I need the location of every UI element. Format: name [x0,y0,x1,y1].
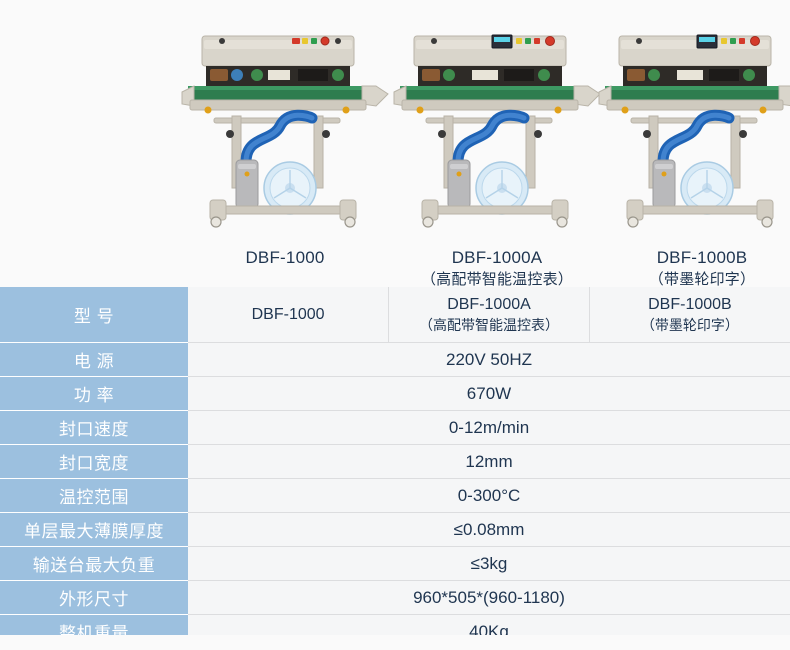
spec-value-sealing-width: 12mm [188,445,790,479]
table-header-row: 型 号 DBF-1000 DBF-1000A （高配带智能温控表） DBF-10… [0,287,790,343]
product-image-dbf-1000a[interactable]: DBF-1000A （高配带智能温控表） [392,14,602,284]
table-row: 封口速度 0-12m/min [0,411,790,445]
page-bottom-spacer [0,635,790,650]
spec-value-max-conveyor-load: ≤3kg [188,547,790,581]
table-row: 功 率 670W [0,377,790,411]
spec-value-power: 670W [188,377,790,411]
spec-label-model: 型 号 [0,287,188,343]
product-caption-title: DBF-1000 [245,248,324,267]
model-title: DBF-1000B [648,296,732,313]
model-column-dbf-1000: DBF-1000 [188,287,389,343]
model-subtitle: （高配带智能温控表） [389,315,589,335]
specification-table: 型 号 DBF-1000 DBF-1000A （高配带智能温控表） DBF-10… [0,287,790,649]
product-caption: DBF-1000B （带墨轮印字） [597,246,790,291]
band-sealer-illustration [392,14,602,229]
spec-value-max-film-thickness: ≤0.08mm [188,513,790,547]
model-column-dbf-1000b: DBF-1000B （带墨轮印字） [589,287,790,343]
spec-label-power: 功 率 [0,377,188,411]
table-row: 外形尺寸 960*505*(960-1180) [0,581,790,615]
band-sealer-illustration [180,14,390,229]
spec-value-dimensions: 960*505*(960-1180) [188,581,790,615]
spec-value-sealing-speed: 0-12m/min [188,411,790,445]
model-subtitle: （带墨轮印字） [590,315,790,335]
band-sealer-illustration [597,14,790,229]
table-row: 温控范围 0-300°C [0,479,790,513]
product-image-dbf-1000[interactable]: DBF-1000 [180,14,390,284]
product-gallery: DBF-1000 [0,0,790,285]
product-caption: DBF-1000 [180,246,390,269]
product-caption: DBF-1000A （高配带智能温控表） [392,246,602,291]
spec-label-temperature-range: 温控范围 [0,479,188,513]
spec-value-temperature-range: 0-300°C [188,479,790,513]
model-title: DBF-1000 [252,306,325,323]
model-title: DBF-1000A [447,296,531,313]
table-row: 输送台最大负重 ≤3kg [0,547,790,581]
spec-value-power-source: 220V 50HZ [188,343,790,377]
table-row: 单层最大薄膜厚度 ≤0.08mm [0,513,790,547]
spec-label-sealing-width: 封口宽度 [0,445,188,479]
model-column-dbf-1000a: DBF-1000A （高配带智能温控表） [389,287,590,343]
product-image-dbf-1000b[interactable]: DBF-1000B （带墨轮印字） [597,14,790,284]
spec-label-dimensions: 外形尺寸 [0,581,188,615]
table-row: 电 源 220V 50HZ [0,343,790,377]
spec-label-max-conveyor-load: 输送台最大负重 [0,547,188,581]
spec-label-sealing-speed: 封口速度 [0,411,188,445]
table-row: 封口宽度 12mm [0,445,790,479]
spec-label-power-source: 电 源 [0,343,188,377]
product-caption-title: DBF-1000A [452,248,543,267]
spec-label-max-film-thickness: 单层最大薄膜厚度 [0,513,188,547]
product-caption-title: DBF-1000B [657,248,748,267]
